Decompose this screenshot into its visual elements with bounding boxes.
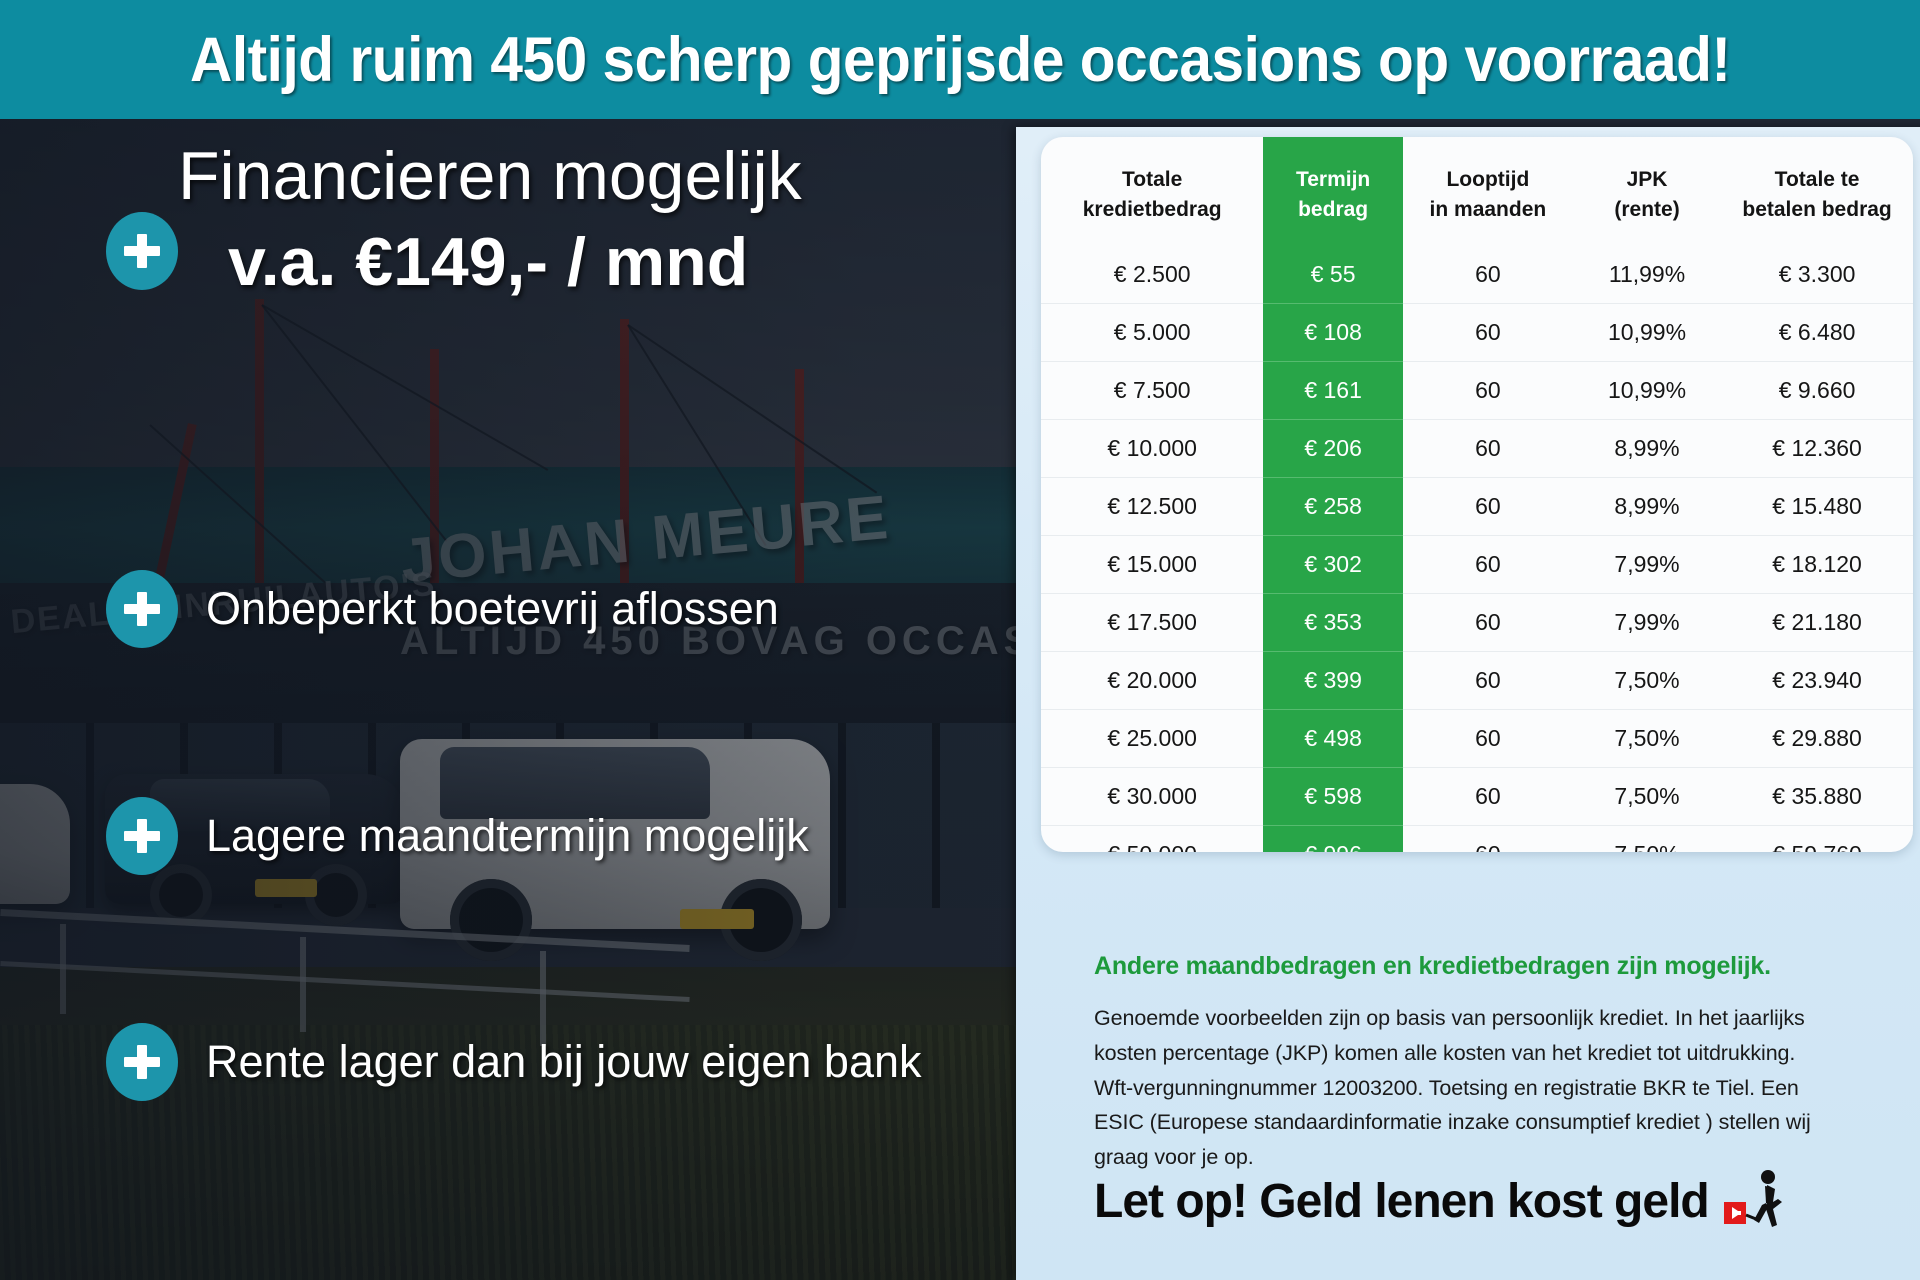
cell-krediet: € 20.000	[1041, 651, 1263, 709]
cell-totaal: € 6.480	[1721, 303, 1913, 361]
cell-totaal: € 12.360	[1721, 419, 1913, 477]
cell-jkp: 7,99%	[1573, 535, 1721, 593]
table-header-looptijd: Looptijd in maanden	[1403, 137, 1573, 246]
cell-totaal: € 21.180	[1721, 593, 1913, 651]
table-row: € 25.000€ 498607,50%€ 29.880	[1041, 709, 1913, 767]
financing-info-panel: Totale kredietbedrag Termijn bedrag Loop…	[1016, 127, 1920, 1280]
header-line1: Totale	[1045, 165, 1259, 195]
table-header-row: Totale kredietbedrag Termijn bedrag Loop…	[1041, 137, 1913, 246]
cell-looptijd: 60	[1403, 419, 1573, 477]
table-row: € 17.500€ 353607,99%€ 21.180	[1041, 593, 1913, 651]
cell-krediet: € 50.000	[1041, 825, 1263, 852]
cell-jkp: 10,99%	[1573, 303, 1721, 361]
advertisement-banner: Altijd ruim 450 scherp geprijsde occasio…	[0, 0, 1920, 1280]
bullet-item-aflossen: Onbeperkt boetevrij aflossen	[106, 570, 779, 648]
cell-totaal: € 18.120	[1721, 535, 1913, 593]
promo-headline-line2: v.a. €149,- / mnd	[228, 223, 748, 301]
bullet-item-label: Rente lager dan bij jouw eigen bank	[206, 1036, 922, 1088]
bullet-item-maandtermijn: Lagere maandtermijn mogelijk	[106, 797, 809, 875]
promo-headline-line1: Financieren mogelijk	[178, 137, 802, 215]
header-line2: in maanden	[1407, 195, 1569, 225]
cell-jkp: 7,50%	[1573, 709, 1721, 767]
cell-looptijd: 60	[1403, 303, 1573, 361]
cell-termijn: € 108	[1263, 303, 1403, 361]
disclaimer-body: Genoemde voorbeelden zijn op basis van p…	[1094, 1001, 1839, 1175]
top-promo-banner: Altijd ruim 450 scherp geprijsde occasio…	[0, 0, 1920, 119]
financing-table-body: € 2.500€ 556011,99%€ 3.300 € 5.000€ 1086…	[1041, 246, 1913, 852]
table-row: € 12.500€ 258608,99%€ 15.480	[1041, 477, 1913, 535]
table-row: € 7.500€ 1616010,99%€ 9.660	[1041, 361, 1913, 419]
credit-warning-row: Let op! Geld lenen kost geld	[1094, 1169, 1789, 1233]
cell-termijn: € 353	[1263, 593, 1403, 651]
cell-jkp: 10,99%	[1573, 361, 1721, 419]
cell-krediet: € 2.500	[1041, 246, 1263, 304]
cell-termijn: € 598	[1263, 767, 1403, 825]
top-promo-banner-text: Altijd ruim 450 scherp geprijsde occasio…	[190, 24, 1731, 96]
cell-looptijd: 60	[1403, 593, 1573, 651]
bullet-item-label: Lagere maandtermijn mogelijk	[206, 810, 809, 862]
table-row: € 30.000€ 598607,50%€ 35.880	[1041, 767, 1913, 825]
cell-jkp: 7,50%	[1573, 651, 1721, 709]
table-header-krediet: Totale kredietbedrag	[1041, 137, 1263, 246]
cell-termijn: € 996	[1263, 825, 1403, 852]
promo-bullet-list: Financieren mogelijk v.a. €149,- / mnd O…	[0, 119, 1030, 1280]
table-row: € 5.000€ 1086010,99%€ 6.480	[1041, 303, 1913, 361]
header-line2: (rente)	[1577, 195, 1717, 225]
cell-termijn: € 399	[1263, 651, 1403, 709]
cell-totaal: € 3.300	[1721, 246, 1913, 304]
header-line2: betalen bedrag	[1725, 195, 1909, 225]
cell-krediet: € 5.000	[1041, 303, 1263, 361]
bullet-item-label: Onbeperkt boetevrij aflossen	[206, 583, 779, 635]
cell-totaal: € 23.940	[1721, 651, 1913, 709]
cell-jkp: 7,50%	[1573, 767, 1721, 825]
cell-looptijd: 60	[1403, 825, 1573, 852]
plus-icon	[106, 212, 178, 290]
cell-jkp: 11,99%	[1573, 246, 1721, 304]
cell-jkp: 8,99%	[1573, 419, 1721, 477]
cell-krediet: € 7.500	[1041, 361, 1263, 419]
credit-warning-text: Let op! Geld lenen kost geld	[1094, 1174, 1709, 1229]
cell-looptijd: 60	[1403, 709, 1573, 767]
cell-krediet: € 30.000	[1041, 767, 1263, 825]
afm-walking-man-icon	[1723, 1169, 1789, 1233]
cell-termijn: € 498	[1263, 709, 1403, 767]
table-row: € 50.000€ 996607,50%€ 59.760	[1041, 825, 1913, 852]
plus-icon	[106, 1023, 178, 1101]
table-header-termijn: Termijn bedrag	[1263, 137, 1403, 246]
bullet-item-financieren	[106, 212, 178, 290]
table-row: € 2.500€ 556011,99%€ 3.300	[1041, 246, 1913, 304]
cell-termijn: € 258	[1263, 477, 1403, 535]
header-line1: Totale te	[1725, 165, 1909, 195]
table-row: € 20.000€ 399607,50%€ 23.940	[1041, 651, 1913, 709]
plus-icon	[106, 797, 178, 875]
table-header-totaal: Totale te betalen bedrag	[1721, 137, 1913, 246]
header-line1: JPK	[1577, 165, 1717, 195]
cell-looptijd: 60	[1403, 477, 1573, 535]
financing-table-card: Totale kredietbedrag Termijn bedrag Loop…	[1041, 137, 1913, 852]
cell-krediet: € 17.500	[1041, 593, 1263, 651]
plus-icon	[106, 570, 178, 648]
header-line2: kredietbedrag	[1045, 195, 1259, 225]
cell-termijn: € 206	[1263, 419, 1403, 477]
disclaimer-block: Andere maandbedragen en kredietbedragen …	[1094, 952, 1839, 1175]
cell-termijn: € 55	[1263, 246, 1403, 304]
financing-table: Totale kredietbedrag Termijn bedrag Loop…	[1041, 137, 1913, 852]
cell-totaal: € 9.660	[1721, 361, 1913, 419]
header-line1: Looptijd	[1407, 165, 1569, 195]
table-row: € 15.000€ 302607,99%€ 18.120	[1041, 535, 1913, 593]
cell-termijn: € 302	[1263, 535, 1403, 593]
header-line1: Termijn	[1267, 165, 1399, 195]
cell-jkp: 7,99%	[1573, 593, 1721, 651]
cell-totaal: € 29.880	[1721, 709, 1913, 767]
cell-krediet: € 12.500	[1041, 477, 1263, 535]
cell-totaal: € 59.760	[1721, 825, 1913, 852]
cell-jkp: 8,99%	[1573, 477, 1721, 535]
cell-jkp: 7,50%	[1573, 825, 1721, 852]
table-header-jkp: JPK (rente)	[1573, 137, 1721, 246]
cell-termijn: € 161	[1263, 361, 1403, 419]
bullet-item-rente: Rente lager dan bij jouw eigen bank	[106, 1023, 922, 1101]
cell-krediet: € 25.000	[1041, 709, 1263, 767]
cell-totaal: € 35.880	[1721, 767, 1913, 825]
cell-looptijd: 60	[1403, 535, 1573, 593]
cell-totaal: € 15.480	[1721, 477, 1913, 535]
cell-looptijd: 60	[1403, 361, 1573, 419]
disclaimer-heading: Andere maandbedragen en kredietbedragen …	[1094, 952, 1839, 981]
header-line2: bedrag	[1267, 195, 1399, 225]
cell-krediet: € 10.000	[1041, 419, 1263, 477]
cell-looptijd: 60	[1403, 767, 1573, 825]
cell-looptijd: 60	[1403, 246, 1573, 304]
cell-looptijd: 60	[1403, 651, 1573, 709]
table-row: € 10.000€ 206608,99%€ 12.360	[1041, 419, 1913, 477]
cell-krediet: € 15.000	[1041, 535, 1263, 593]
